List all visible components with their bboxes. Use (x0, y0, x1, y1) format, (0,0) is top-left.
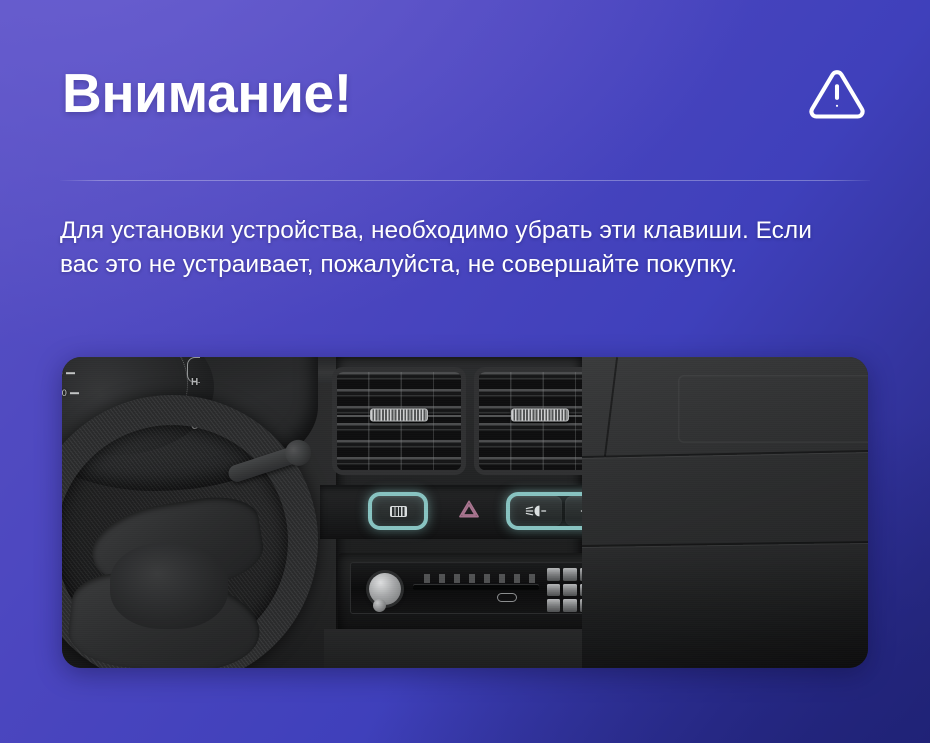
radio-display (415, 574, 537, 583)
speed-tick-200: 200 (62, 388, 67, 398)
cd-slot (413, 585, 539, 590)
radio-preset-4[interactable] (547, 584, 560, 597)
hazard-lights-button[interactable] (440, 490, 498, 532)
air-vent-group (332, 367, 607, 475)
dashboard-photo-card: km/h 140 160 180 200 H C (62, 357, 868, 668)
steering-wheel-hub (110, 543, 228, 629)
notice-paragraph: Для установки устройства, необходимо убр… (60, 214, 850, 282)
panel-seam-vertical (604, 357, 618, 456)
console-lower-tray (324, 629, 624, 668)
notice-body: Для установки устройства, необходимо убр… (60, 214, 860, 282)
vent-adjuster-knob (370, 409, 428, 422)
radio-secondary-knob[interactable] (373, 599, 386, 612)
speed-tick-180: 180 (62, 368, 63, 378)
airbag-cover-outline (678, 375, 868, 443)
radio-preset-2[interactable] (563, 568, 576, 581)
page-title: Внимание! (62, 65, 352, 122)
radio-preset-8[interactable] (563, 599, 576, 612)
warning-triangle-icon (806, 63, 868, 125)
page-header: Внимание! (62, 48, 868, 140)
air-vent-left (332, 367, 466, 475)
warning-notice-page: Внимание! Для установки устройства, необ… (0, 0, 930, 743)
car-radio[interactable] (350, 562, 598, 614)
radio-preset-5[interactable] (563, 584, 576, 597)
radio-preset-7[interactable] (547, 599, 560, 612)
passenger-dash-panel (582, 357, 868, 668)
fuel-gauge-label: H (191, 377, 198, 388)
panel-seam-lower (582, 541, 868, 547)
vent-adjuster-knob (511, 409, 569, 422)
radio-preset-1[interactable] (547, 568, 560, 581)
highlight-rear-defogger (368, 492, 428, 530)
header-divider (60, 180, 870, 181)
dashboard-photo: km/h 140 160 180 200 H C (62, 357, 868, 668)
panel-seam-upper (582, 450, 868, 458)
head-unit-bezel (338, 553, 608, 635)
eject-button[interactable] (497, 593, 517, 602)
hazard-triangle-icon (458, 499, 480, 524)
panel-shadow (582, 548, 868, 668)
